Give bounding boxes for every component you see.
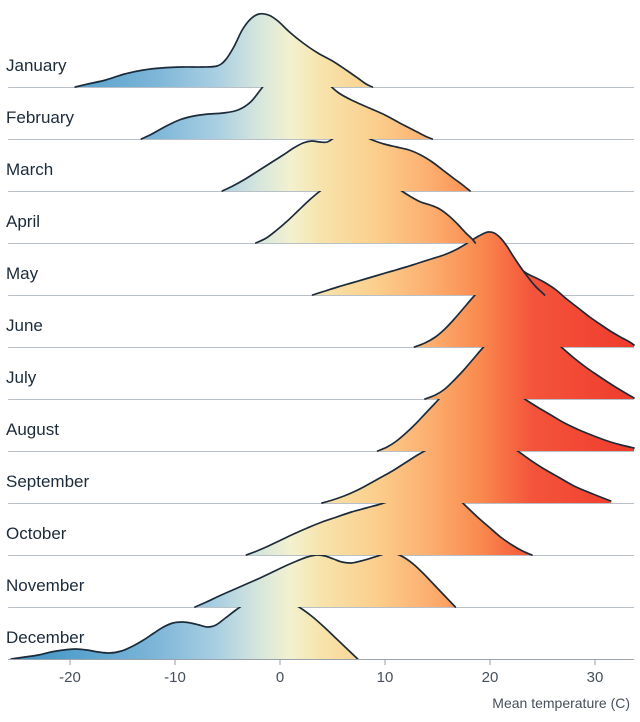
x-tick-label: -20: [59, 669, 81, 686]
month-label-august: August: [6, 420, 59, 439]
ridgeline-plot-canvas: JanuaryFebruaryMarchAprilMayJuneJulyAugu…: [0, 0, 640, 722]
month-labels-group: JanuaryFebruaryMarchAprilMayJuneJulyAugu…: [6, 56, 89, 647]
ridge-series-november: [195, 553, 455, 607]
ridge-series-january: [75, 14, 372, 87]
ridge-curves-group: [11, 14, 634, 659]
month-label-december: December: [6, 628, 85, 647]
x-tick-label: 10: [377, 669, 394, 686]
month-label-june: June: [6, 316, 43, 335]
month-label-july: July: [6, 368, 37, 387]
month-label-january: January: [6, 56, 67, 75]
ridgeline-chart: JanuaryFebruaryMarchAprilMayJuneJulyAugu…: [0, 0, 640, 722]
month-label-march: March: [6, 160, 53, 179]
x-tick-label: 0: [276, 669, 284, 686]
month-label-september: September: [6, 472, 89, 491]
month-label-april: April: [6, 212, 40, 231]
x-axis-title: Mean temperature (C): [492, 695, 630, 711]
month-label-february: February: [6, 108, 75, 127]
month-label-may: May: [6, 264, 39, 283]
month-label-november: November: [6, 576, 85, 595]
x-axis-group: -20-100102030Mean temperature (C): [8, 659, 634, 711]
month-label-october: October: [6, 524, 67, 543]
x-tick-label: -10: [164, 669, 186, 686]
ridge-area-fill: [195, 553, 455, 607]
x-tick-label: 20: [482, 669, 499, 686]
ridge-series-march: [222, 133, 470, 191]
x-tick-label: 30: [587, 669, 604, 686]
